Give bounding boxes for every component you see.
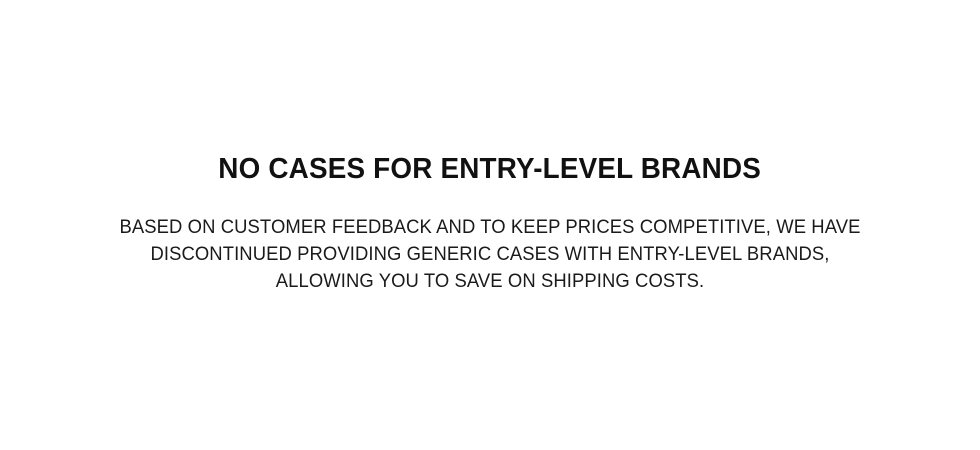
promo-section: NO CASES FOR ENTRY-LEVEL BRANDS BASED ON… [0,0,980,450]
promo-heading: NO CASES FOR ENTRY-LEVEL BRANDS [219,152,762,186]
promo-body-text: BASED ON CUSTOMER FEEDBACK AND TO KEEP P… [102,214,878,295]
